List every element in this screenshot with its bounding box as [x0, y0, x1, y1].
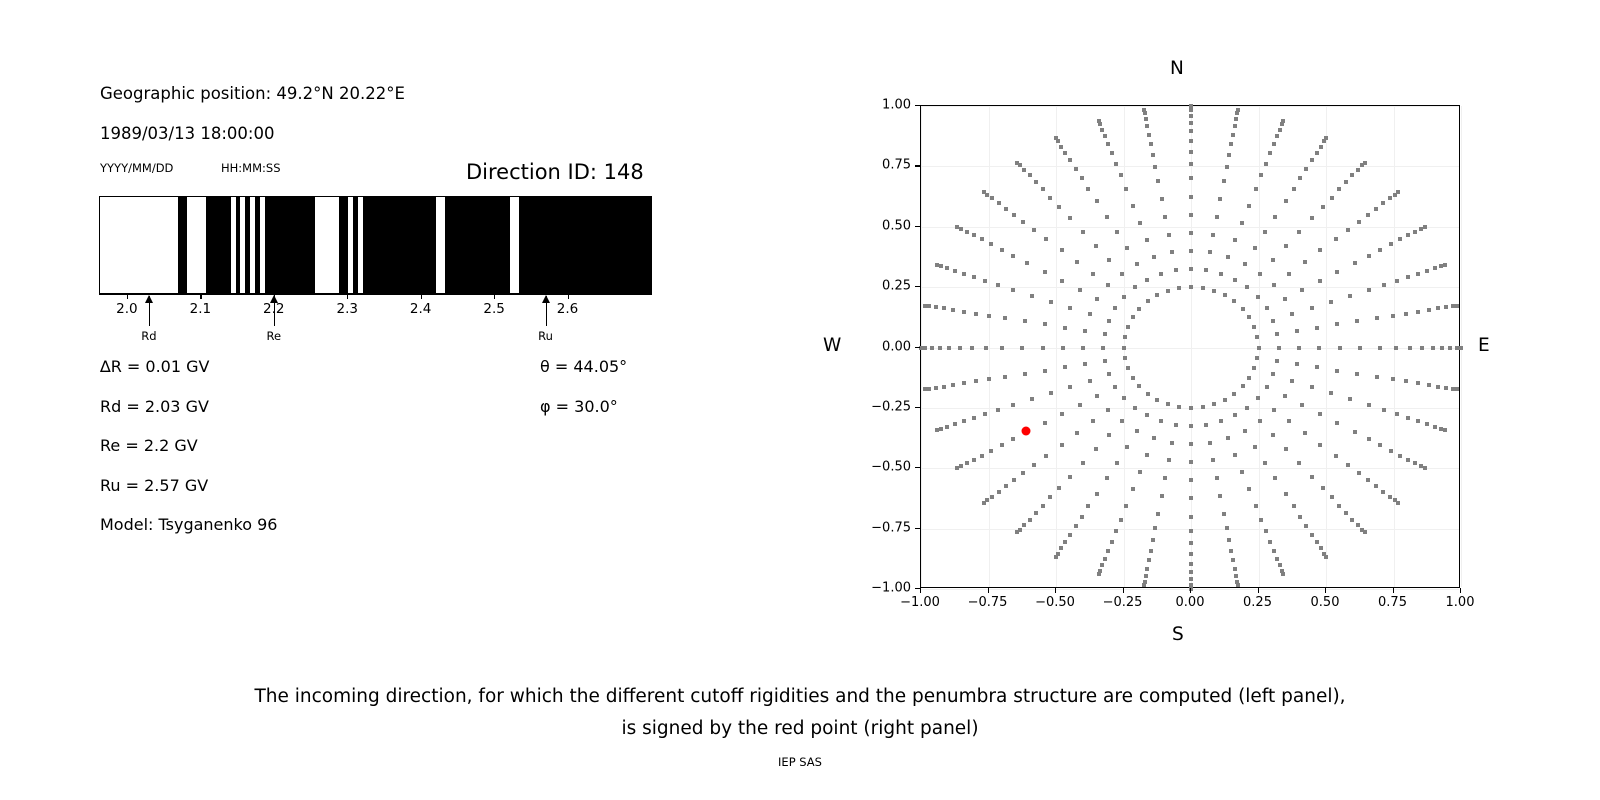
- direction-grid-dot: [1234, 117, 1238, 121]
- direction-grid-dot: [1229, 142, 1233, 146]
- direction-grid-dot: [927, 387, 931, 391]
- direction-grid-dot: [1034, 511, 1038, 515]
- direction-grid-dot: [1122, 396, 1126, 400]
- direction-grid-dot: [1063, 365, 1067, 369]
- direction-grid-dot: [1115, 230, 1119, 234]
- direction-grid-dot: [1225, 165, 1229, 169]
- direction-grid-dot: [1068, 533, 1072, 537]
- direction-grid-dot: [1189, 529, 1193, 533]
- direction-grid-dot: [1156, 179, 1160, 183]
- direction-grid-dot: [1284, 244, 1288, 248]
- direction-grid-dot: [1367, 403, 1371, 407]
- direction-grid-dot: [1304, 524, 1308, 528]
- direction-grid-dot: [1149, 142, 1153, 146]
- direction-grid-dot: [1382, 408, 1386, 412]
- direction-grid-dot: [1297, 346, 1301, 350]
- direction-grid-dot: [1337, 187, 1341, 191]
- direction-grid-dot: [1231, 558, 1235, 562]
- direction-grid-dot: [1319, 145, 1323, 149]
- direction-grid-dot: [1378, 346, 1382, 350]
- direction-grid-dot: [1318, 279, 1322, 283]
- direction-grid-dot: [1240, 221, 1244, 225]
- direction-grid-dot: [1189, 129, 1193, 133]
- direction-grid-dot: [1163, 215, 1167, 219]
- caption-line-1: The incoming direction, for which the di…: [0, 686, 1600, 707]
- direction-grid-dot: [955, 225, 959, 229]
- direction-grid-dot: [1107, 258, 1111, 262]
- x-axis-tick: [1460, 588, 1461, 593]
- direction-grid-dot: [1254, 504, 1258, 508]
- direction-grid-dot: [1145, 413, 1149, 417]
- direction-grid-dot: [1119, 518, 1123, 522]
- direction-grid-dot: [1160, 494, 1164, 498]
- direction-grid-dot: [1391, 314, 1395, 318]
- direction-grid-dot: [1003, 316, 1007, 320]
- direction-grid-dot: [1295, 329, 1299, 333]
- direction-grid-dot: [1346, 463, 1350, 467]
- direction-grid-dot: [1218, 494, 1222, 498]
- direction-grid-dot: [1292, 187, 1296, 191]
- direction-grid-dot: [1063, 326, 1067, 330]
- direction-grid-dot: [1088, 312, 1092, 316]
- direction-grid-dot: [1012, 213, 1016, 217]
- direction-grid-dot: [1381, 490, 1385, 494]
- x-axis-tick: [1190, 588, 1191, 593]
- selected-direction-marker: [1022, 426, 1031, 435]
- caption-line-2: is signed by the red point (right panel): [0, 718, 1600, 739]
- direction-grid-dot: [1315, 540, 1319, 544]
- direction-grid-dot: [1226, 255, 1230, 259]
- direction-grid-dot: [1353, 261, 1357, 265]
- direction-grid-dot: [972, 416, 976, 420]
- direction-grid-dot: [1201, 286, 1205, 290]
- direction-grid-dot: [1152, 436, 1156, 440]
- direction-grid-dot: [1404, 379, 1408, 383]
- y-axis-tick-label: −0.25: [841, 399, 911, 414]
- direction-grid-dot: [1177, 405, 1181, 409]
- direction-grid-dot: [1350, 518, 1354, 522]
- direction-grid-dot: [1144, 574, 1148, 578]
- direction-grid-dot: [1000, 248, 1004, 252]
- direction-grid-dot: [1159, 272, 1163, 276]
- grid-line-horizontal: [921, 227, 1459, 228]
- direction-grid-dot: [1137, 384, 1141, 388]
- direction-grid-dot: [1425, 269, 1429, 273]
- direction-grid-dot: [1044, 454, 1048, 458]
- direction-grid-dot: [980, 454, 984, 458]
- direction-grid-dot: [1284, 492, 1288, 496]
- direction-grid-dot: [965, 230, 969, 234]
- direction-grid-dot: [1030, 294, 1034, 298]
- direction-grid-dot: [1189, 267, 1193, 271]
- direction-grid-dot: [1189, 108, 1193, 112]
- grid-line-horizontal: [921, 166, 1459, 167]
- direction-grid-dot: [1243, 262, 1247, 266]
- direction-grid-dot: [1059, 546, 1063, 550]
- direction-grid-dot: [1236, 583, 1240, 587]
- direction-grid-dot: [1292, 504, 1296, 508]
- direction-grid-dot: [1404, 312, 1408, 316]
- direction-grid-dot: [1218, 197, 1222, 201]
- direction-grid-dot: [1310, 533, 1314, 537]
- direction-grid-dot: [962, 419, 966, 423]
- x-axis-tick-label: −1.00: [900, 595, 940, 610]
- direction-grid-dot: [1080, 176, 1084, 180]
- direction-grid-dot: [1048, 196, 1052, 200]
- x-axis-tick-label: 0.25: [1243, 595, 1272, 610]
- direction-grid-dot: [1177, 286, 1181, 290]
- direction-grid-dot: [1427, 308, 1431, 312]
- y-axis-tick-label: 0.50: [841, 218, 911, 233]
- x-axis-tick: [1325, 588, 1326, 593]
- direction-grid-dot: [1271, 258, 1275, 262]
- direction-grid-dot: [1189, 577, 1193, 581]
- direction-grid-dot: [1137, 307, 1141, 311]
- direction-grid-dot: [1227, 538, 1231, 542]
- direction-grid-dot: [1233, 124, 1237, 128]
- direction-grid-dot: [1094, 244, 1098, 248]
- direction-grid-dot: [1416, 272, 1420, 276]
- direction-grid-dot: [1236, 108, 1240, 112]
- direction-grid-dot: [1329, 300, 1333, 304]
- direction-grid-dot: [1443, 428, 1447, 432]
- direction-grid-dot: [1049, 300, 1053, 304]
- y-axis-tick-label: 0.75: [841, 158, 911, 173]
- direction-grid-dot: [1149, 549, 1153, 553]
- direction-grid-dot: [1189, 104, 1193, 108]
- direction-grid-dot: [1106, 283, 1110, 287]
- y-axis-tick-label: 0.00: [841, 339, 911, 354]
- direction-grid-dot: [1355, 319, 1359, 323]
- direction-grid-dot: [1321, 486, 1325, 490]
- direction-grid-dot: [1075, 431, 1079, 435]
- direction-grid-dot: [1277, 346, 1281, 350]
- direction-grid-dot: [1145, 124, 1149, 128]
- direction-grid-dot: [1436, 385, 1440, 389]
- direction-grid-dot: [1247, 204, 1251, 208]
- direction-grid-dot: [1145, 238, 1149, 242]
- direction-grid-dot: [1057, 205, 1061, 209]
- direction-grid-dot: [1088, 379, 1092, 383]
- direction-grid-dot: [951, 308, 955, 312]
- direction-grid-dot: [1145, 453, 1149, 457]
- direction-grid-dot: [1211, 458, 1215, 462]
- direction-grid-dot: [923, 387, 927, 391]
- direction-grid-dot: [1097, 572, 1101, 576]
- direction-grid-dot: [1204, 423, 1208, 427]
- direction-grid-dot: [1252, 325, 1256, 329]
- direction-grid-dot: [1298, 515, 1302, 519]
- direction-grid-dot: [1252, 366, 1256, 370]
- direction-grid-dot: [1256, 396, 1260, 400]
- direction-grid-dot: [974, 379, 978, 383]
- direction-grid-dot: [1395, 279, 1399, 283]
- direction-grid-dot: [1068, 216, 1072, 220]
- direction-grid-dot: [1138, 221, 1142, 225]
- direction-grid-dot: [1444, 305, 1448, 309]
- direction-grid-dot: [1335, 369, 1339, 373]
- direction-grid-dot: [1030, 397, 1034, 401]
- x-axis-tick-label: 0.50: [1311, 595, 1340, 610]
- direction-grid-dot: [1329, 391, 1333, 395]
- direction-grid-dot: [1022, 168, 1026, 172]
- direction-grid-dot: [1155, 398, 1159, 402]
- direction-grid-dot: [1189, 478, 1193, 482]
- direction-grid-dot: [1212, 402, 1216, 406]
- direction-grid-dot: [1189, 406, 1193, 410]
- direction-grid-dot: [1060, 412, 1064, 416]
- direction-grid-dot: [1272, 283, 1276, 287]
- direction-grid-dot: [942, 306, 946, 310]
- direction-grid-dot: [939, 427, 943, 431]
- direction-grid-dot: [945, 425, 949, 429]
- direction-grid-dot: [1263, 461, 1267, 465]
- direction-grid-dot: [1113, 385, 1117, 389]
- direction-grid-dot: [1413, 230, 1417, 234]
- direction-grid-dot: [1363, 161, 1367, 165]
- direction-grid-dot: [1433, 266, 1437, 270]
- direction-grid-dot: [1406, 233, 1410, 237]
- direction-grid-dot: [1174, 423, 1178, 427]
- direction-grid-dot: [1374, 207, 1378, 211]
- direction-grid-dot: [951, 383, 955, 387]
- compass-label-south: S: [1172, 624, 1184, 645]
- direction-grid-dot: [1375, 375, 1379, 379]
- direction-grid-dot: [1222, 512, 1226, 516]
- grid-line-vertical: [1326, 106, 1327, 587]
- direction-grid-dot: [1043, 421, 1047, 425]
- direction-grid-dot: [1144, 117, 1148, 121]
- direction-grid-dot: [1057, 486, 1061, 490]
- direction-grid-dot: [1344, 180, 1348, 184]
- direction-grid-dot: [1310, 158, 1314, 162]
- direction-grid-dot: [1284, 199, 1288, 203]
- direction-grid-dot: [1330, 196, 1334, 200]
- direction-grid-dot: [1011, 288, 1015, 292]
- direction-grid-dot: [1263, 230, 1267, 234]
- direction-grid-dot: [1268, 151, 1272, 155]
- y-axis-tick-label: −0.75: [841, 520, 911, 535]
- direction-grid-dot: [1423, 225, 1427, 229]
- direction-grid-dot: [1375, 316, 1379, 320]
- direction-grid-dot: [1335, 270, 1339, 274]
- direction-grid-dot: [1189, 249, 1193, 253]
- direction-grid-dot: [1259, 173, 1263, 177]
- direction-grid-dot: [1145, 567, 1149, 571]
- direction-grid-dot: [1367, 254, 1371, 258]
- direction-grid-dot: [1272, 408, 1276, 412]
- direction-grid-dot: [1278, 128, 1282, 132]
- direction-grid-dot: [1153, 526, 1157, 530]
- direction-grid-dot: [1041, 346, 1045, 350]
- direction-grid-dot: [983, 412, 987, 416]
- direction-grid-dot: [1233, 567, 1237, 571]
- x-axis-tick-label: 1.00: [1446, 595, 1475, 610]
- direction-grid-dot: [1310, 216, 1314, 220]
- y-axis-tick: [915, 467, 920, 468]
- direction-grid-dot: [959, 464, 963, 468]
- direction-grid-dot: [930, 346, 934, 350]
- direction-grid-dot: [1241, 384, 1245, 388]
- direction-grid-dot: [1060, 279, 1064, 283]
- direction-grid-dot: [1115, 461, 1119, 465]
- direction-grid-dot: [945, 266, 949, 270]
- direction-grid-dot: [1146, 299, 1150, 303]
- direction-grid-dot: [1335, 421, 1339, 425]
- direction-grid-dot: [1247, 376, 1251, 380]
- direction-grid-dot: [1063, 540, 1067, 544]
- direction-grid-dot: [1356, 523, 1360, 527]
- direction-grid-dot: [1247, 487, 1251, 491]
- direction-grid-dot: [1078, 288, 1082, 292]
- direction-grid-dot: [1122, 346, 1126, 350]
- direction-grid-dot: [1388, 495, 1392, 499]
- direction-grid-dot: [1081, 346, 1085, 350]
- direction-grid-dot: [1444, 386, 1448, 390]
- direction-grid-dot: [1174, 268, 1178, 272]
- direction-grid-dot: [1114, 529, 1118, 533]
- direction-grid-dot: [1080, 515, 1084, 519]
- direction-grid-dot: [1283, 297, 1287, 301]
- direction-grid-dot: [1034, 180, 1038, 184]
- right-panel: N S W E −1.00−0.75−0.50−0.250.000.250.50…: [0, 0, 1600, 660]
- direction-grid-dot: [1095, 297, 1099, 301]
- direction-grid-dot: [1131, 376, 1135, 380]
- direction-grid-dot: [1189, 150, 1193, 154]
- direction-grid-dot: [1272, 549, 1276, 553]
- direction-grid-dot: [1448, 346, 1452, 350]
- direction-grid-dot: [1043, 322, 1047, 326]
- direction-grid-dot: [965, 461, 969, 465]
- direction-grid-dot: [1284, 447, 1288, 451]
- direction-grid-dot: [1059, 145, 1063, 149]
- direction-grid-dot: [1295, 362, 1299, 366]
- direction-grid-dot: [990, 495, 994, 499]
- direction-grid-dot: [1081, 230, 1085, 234]
- direction-grid-dot: [1315, 326, 1319, 330]
- direction-grid-dot: [1110, 151, 1114, 155]
- direction-grid-dot: [927, 304, 931, 308]
- direction-grid-dot: [1235, 111, 1239, 115]
- direction-grid-dot: [1170, 441, 1174, 445]
- direction-grid-dot: [1189, 162, 1193, 166]
- direction-grid-dot: [1304, 167, 1308, 171]
- direction-grid-dot: [1043, 369, 1047, 373]
- direction-grid-dot: [1075, 260, 1079, 264]
- direction-grid-dot: [1068, 385, 1072, 389]
- direction-grid-dot: [1043, 270, 1047, 274]
- direction-grid-dot: [1310, 385, 1314, 389]
- direction-grid-dot: [1097, 119, 1101, 123]
- direction-grid-dot: [1241, 307, 1245, 311]
- direction-grid-dot: [989, 449, 993, 453]
- compass-label-north: N: [1170, 58, 1184, 79]
- direction-grid-dot: [1300, 288, 1304, 292]
- direction-grid-dot: [1222, 179, 1226, 183]
- direction-grid-dot: [1189, 114, 1193, 118]
- direction-grid-dot: [1416, 381, 1420, 385]
- direction-grid-dot: [955, 466, 959, 470]
- direction-grid-dot: [1135, 429, 1139, 433]
- direction-grid-dot: [1219, 419, 1223, 423]
- direction-grid-dot: [1247, 315, 1251, 319]
- direction-grid-dot: [1253, 445, 1257, 449]
- direction-grid-dot: [1012, 478, 1016, 482]
- direction-grid-dot: [1125, 246, 1129, 250]
- direction-grid-dot: [974, 312, 978, 316]
- x-axis-tick-label: 0.75: [1378, 595, 1407, 610]
- direction-grid-dot: [1189, 562, 1193, 566]
- direction-grid-dot: [1367, 288, 1371, 292]
- direction-grid-dot: [1398, 454, 1402, 458]
- direction-grid-dot: [997, 490, 1001, 494]
- direction-grid-dot: [1394, 346, 1398, 350]
- direction-grid-dot: [1389, 449, 1393, 453]
- direction-grid-dot: [1395, 412, 1399, 416]
- x-axis-tick-label: −0.25: [1103, 595, 1143, 610]
- direction-grid-dot: [1423, 466, 1427, 470]
- direction-grid-dot: [1131, 315, 1135, 319]
- direction-grid-dot: [1234, 574, 1238, 578]
- compass-label-east: E: [1478, 335, 1490, 356]
- direction-grid-dot: [1107, 433, 1111, 437]
- direction-grid-dot: [1023, 319, 1027, 323]
- y-axis-tick: [915, 347, 920, 348]
- direction-grid-dot: [1063, 151, 1067, 155]
- direction-grid-dot: [980, 237, 984, 241]
- direction-grid-dot: [972, 233, 976, 237]
- direction-grid-dot: [1133, 285, 1137, 289]
- direction-grid-dot: [1297, 230, 1301, 234]
- direction-grid-dot: [947, 346, 951, 350]
- direction-grid-dot: [1068, 158, 1072, 162]
- y-axis-tick: [915, 286, 920, 287]
- direction-grid-dot: [1310, 475, 1314, 479]
- direction-grid-dot: [1275, 359, 1279, 363]
- direction-grid-dot: [1357, 220, 1361, 224]
- direction-grid-dot: [1318, 412, 1322, 416]
- direction-grid-dot: [1396, 190, 1400, 194]
- direction-grid-dot: [1223, 293, 1227, 297]
- direction-grid-dot: [1243, 429, 1247, 433]
- direction-grid-dot: [1133, 406, 1137, 410]
- direction-grid-dot: [1100, 128, 1104, 132]
- direction-grid-dot: [1060, 443, 1064, 447]
- direction-grid-dot: [1126, 325, 1130, 329]
- direction-grid-dot: [1374, 484, 1378, 488]
- direction-grid-dot: [1011, 437, 1015, 441]
- direction-grid-dot: [1459, 346, 1463, 350]
- direction-grid-dot: [1155, 293, 1159, 297]
- direction-grid-dot: [1259, 518, 1263, 522]
- direction-grid-dot: [1078, 403, 1082, 407]
- direction-grid-dot: [1257, 346, 1261, 350]
- direction-grid-dot: [1011, 254, 1015, 258]
- direction-grid-dot: [1021, 220, 1025, 224]
- direction-grid-dot: [923, 304, 927, 308]
- direction-grid-dot: [1367, 437, 1371, 441]
- direction-grid-dot: [1122, 295, 1126, 299]
- direction-grid-dot: [1095, 492, 1099, 496]
- direction-grid-dot: [1303, 431, 1307, 435]
- direction-grid-dot: [1425, 422, 1429, 426]
- direction-grid-dot: [1245, 285, 1249, 289]
- direction-grid-dot: [1436, 306, 1440, 310]
- direction-grid-dot: [990, 196, 994, 200]
- direction-grid-dot: [1114, 162, 1118, 166]
- direction-grid-dot: [1378, 248, 1382, 252]
- direction-grid-dot: [1000, 443, 1004, 447]
